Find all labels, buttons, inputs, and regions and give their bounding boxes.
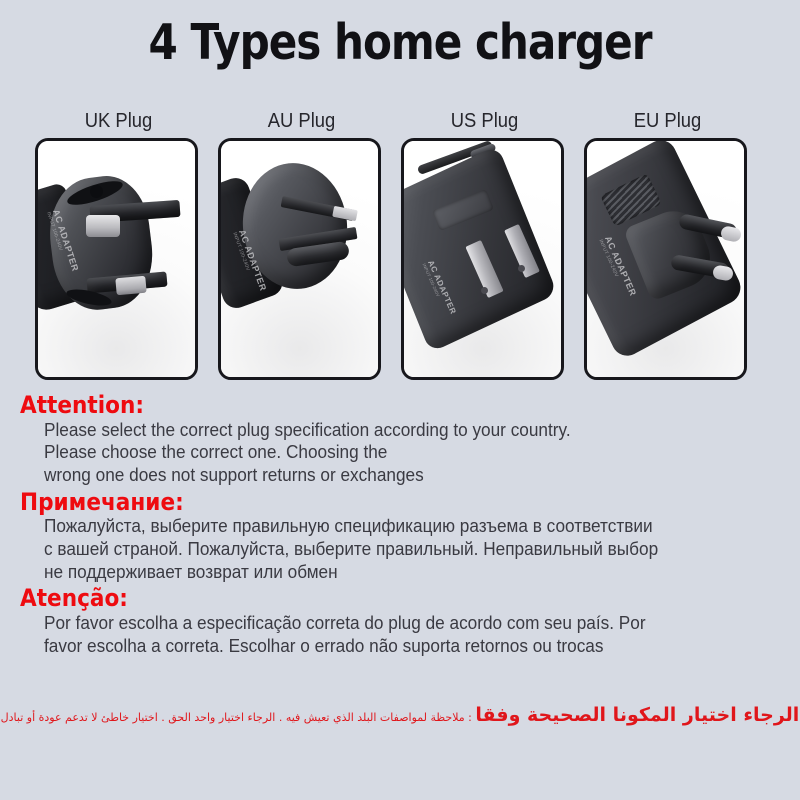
notice-block-russian: Примечание: Пожалуйста, выберите правиль… [0,489,800,584]
plug-photo-uk: AC ADAPTER INPUT 100-240V [38,141,195,377]
uk-face-hole-icon [90,185,103,198]
notice-section: Attention: Please select the correct plu… [0,392,800,657]
notice-block-portuguese: Atenção: Por favor escolha a especificaç… [0,585,800,657]
plug-photo-au: AC ADAPTER INPUT 100-240V [221,141,378,377]
notice-body-russian: Пожалуйста, выберите правильную специфик… [44,515,747,583]
plug-card-row: UK Plug AC ADAPTER INPUT 100-240V AU Plu… [33,110,767,390]
notice-body-english: Please select the correct plug specifica… [44,419,747,487]
uk-earth-pin-tip-icon [115,276,146,296]
us-blade-b-hole-icon [518,265,525,272]
notice-arabic-rest: : ملاحظة لمواصفات البلد الذي تعيش فيه . … [1,711,476,724]
notice-heading-english: Attention: [20,392,722,419]
notice-heading-portuguese: Atenção: [20,585,722,612]
plug-photo-frame-us: AC ADAPTER INPUT 100-240V [401,138,564,380]
eu-round-pin-a-tip-icon [720,225,742,243]
notice-arabic-emphasis: الرجاء اختيار المكونا الصحيحة وفقا [475,704,799,726]
uk-neutral-pin-icon [86,215,120,237]
plug-photo-us: AC ADAPTER INPUT 100-240V [404,141,561,377]
notice-heading-russian: Примечание: [20,489,722,516]
plug-card-uk: UK Plug AC ADAPTER INPUT 100-240V [35,110,202,380]
plug-photo-frame-uk: AC ADAPTER INPUT 100-240V [35,138,198,380]
plug-label-uk: UK Plug [42,110,196,133]
notice-body-portuguese: Por favor escolha a especificação corret… [44,612,747,657]
us-blade-a-hole-icon [481,287,488,294]
plug-photo-frame-eu: AC ADAPTER INPUT 100-240V [584,138,747,380]
plug-label-au: AU Plug [225,110,379,133]
plug-photo-eu: AC ADAPTER INPUT 100-240V [587,141,744,377]
plug-card-au: AU Plug AC ADAPTER INPUT 100-240V [218,110,385,380]
plug-label-us: US Plug [408,110,562,133]
notice-block-english: Attention: Please select the correct plu… [0,392,800,487]
notice-block-arabic: الرجاء اختيار المكونا الصحيحة وفقا : ملا… [0,706,800,725]
plug-photo-frame-au: AC ADAPTER INPUT 100-240V [218,138,381,380]
plug-label-eu: EU Plug [591,110,745,133]
plug-card-eu: EU Plug AC ADAPTER INPUT 100-240V [584,110,751,380]
plug-card-us: US Plug AC ADAPTER INPUT 100-240V [401,110,568,380]
page-title: 4 Types home charger [56,14,744,71]
